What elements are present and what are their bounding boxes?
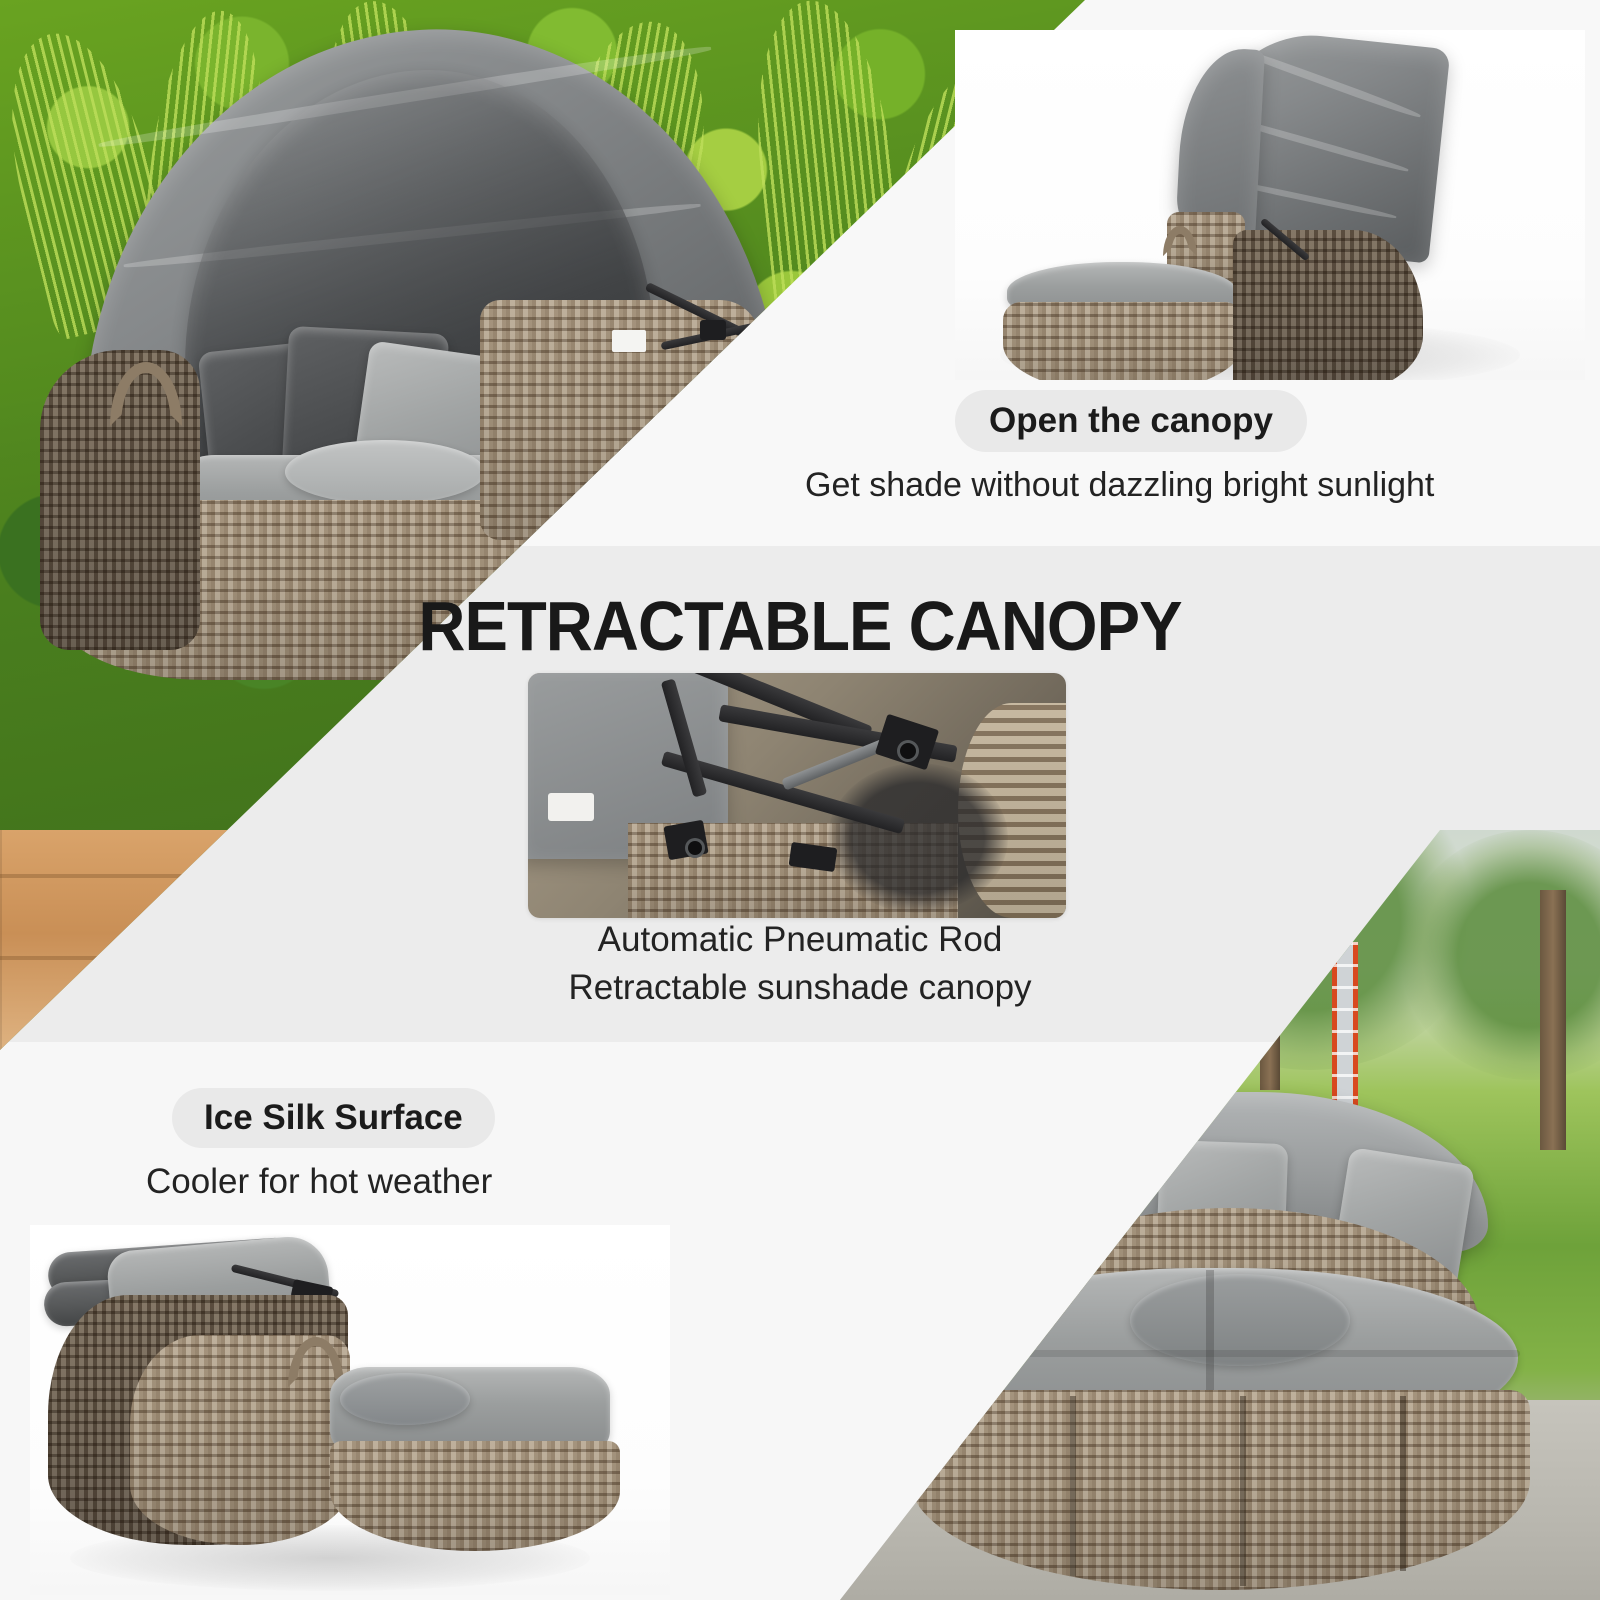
caption-pneumatic-rod-line1: Automatic Pneumatic Rod <box>0 920 1600 960</box>
studio-photo-canopy-open <box>955 30 1585 380</box>
caption-open-the-canopy: Get shade without dazzling bright sunlig… <box>805 466 1434 505</box>
studio-base-left <box>1003 302 1243 380</box>
studio-base-right <box>1233 230 1423 380</box>
badge-ice-silk-surface: Ice Silk Surface <box>172 1088 495 1148</box>
caption-pneumatic-rod-line2: Retractable sunshade canopy <box>0 968 1600 1008</box>
folded-round-cushion <box>340 1373 470 1425</box>
detail-photo-pneumatic-rod <box>528 673 1066 918</box>
studio-photo-canopy-folded <box>30 1225 670 1595</box>
page-title: RETRACTABLE CANOPY <box>56 586 1544 666</box>
infographic-canvas: Open the canopy Get shade without dazzli… <box>0 0 1600 1600</box>
badge-open-the-canopy: Open the canopy <box>955 390 1307 452</box>
caption-ice-silk-surface: Cooler for hot weather <box>146 1162 492 1202</box>
hero-round-table-cushion <box>285 440 485 504</box>
